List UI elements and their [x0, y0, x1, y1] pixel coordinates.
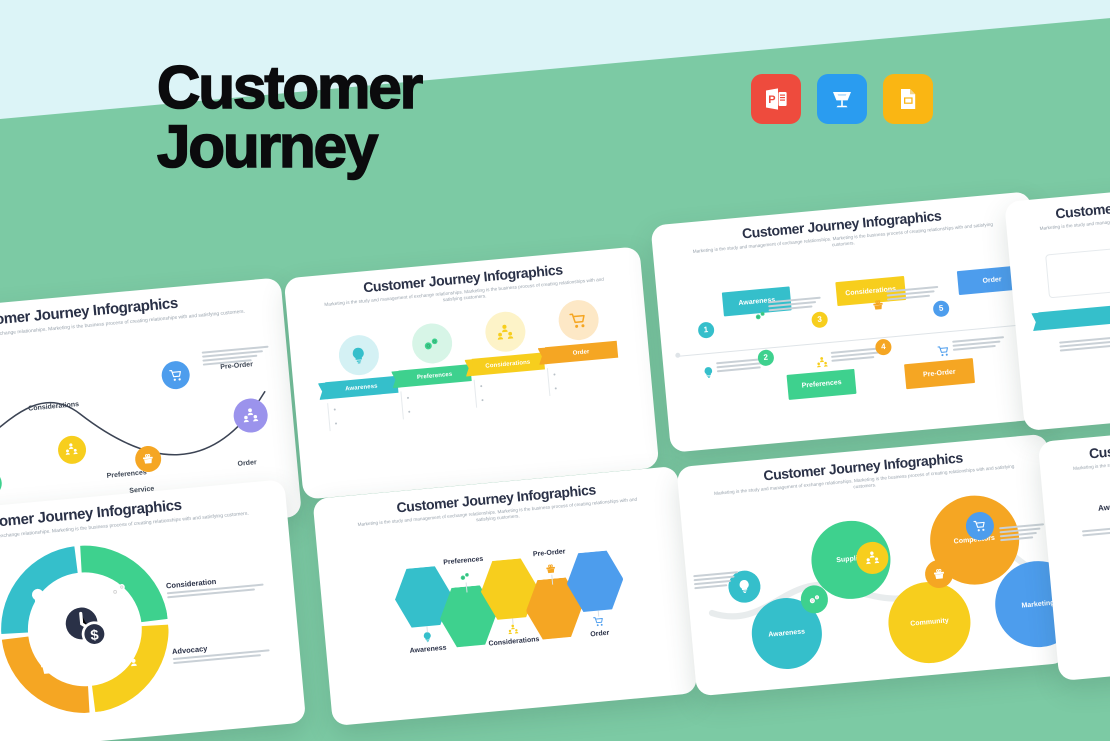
- bullet-list: [333, 401, 398, 431]
- gift-icon: [141, 451, 156, 466]
- slide-ribbon-columns[interactable]: Customer Journey InfographicsMarketing i…: [284, 246, 660, 499]
- bullet-dot: [333, 409, 335, 411]
- connector-line: [512, 619, 514, 625]
- link-icon: [421, 334, 442, 355]
- body-copy: [1059, 325, 1110, 352]
- hexagon-chain: AwarenessPreferencesConsiderationsPre-Or…: [316, 507, 696, 705]
- hexagon-label: Awareness: [409, 645, 446, 655]
- group-icon: [117, 648, 139, 675]
- hexagon-text: [590, 574, 599, 589]
- bullet-item: [481, 392, 545, 408]
- numbered-timeline: 1Awareness2Preferences3Considerations4Pr…: [654, 234, 1048, 432]
- link-icon: [107, 579, 129, 606]
- ribbon-column[interactable]: Awareness: [321, 332, 401, 435]
- svg-text:P: P: [768, 94, 775, 106]
- body-copy: [0, 702, 3, 718]
- hexagon-label: Pre-Order: [533, 548, 566, 558]
- step-icon-circle: [556, 299, 599, 342]
- body-copy: [339, 421, 340, 431]
- hexagon-label: Preferences: [443, 556, 484, 567]
- ribbon-body: [400, 385, 474, 419]
- body-copy: [486, 397, 487, 407]
- body-copy: [1082, 512, 1110, 537]
- lightbulb-icon: [702, 366, 717, 385]
- group-icon: [241, 406, 260, 425]
- step-icon-circle: [410, 322, 453, 365]
- app-format-icons: P: [751, 74, 933, 124]
- bullet-item: [408, 404, 472, 420]
- hexagon-text: [464, 609, 473, 624]
- hexagon-text: [505, 582, 514, 597]
- ribbon-column[interactable]: Order: [541, 297, 623, 415]
- gift-icon: [37, 656, 59, 683]
- donut-label-group: Consideration: [166, 572, 277, 599]
- slide-numbered-timeline[interactable]: Customer Journey InfographicsMarketing i…: [650, 191, 1050, 453]
- bullet-dot: [481, 399, 483, 401]
- powerpoint-icon[interactable]: P: [751, 74, 801, 124]
- ribbon-label-considerations[interactable]: Considerations: [471, 353, 544, 376]
- bullet-dot: [408, 411, 410, 413]
- step-number-4[interactable]: 4: [875, 338, 892, 355]
- group-icon: [64, 441, 80, 457]
- bullet-item: [333, 401, 397, 417]
- bullet-item: [480, 378, 544, 394]
- body-copy: [952, 335, 1010, 350]
- page-title: Customer Journey: [157, 58, 421, 177]
- google-slides-icon[interactable]: [883, 74, 933, 124]
- bullet-list: [553, 366, 618, 396]
- connector-line: [426, 627, 428, 633]
- copy-line: [1082, 513, 1110, 532]
- step-icon-circle: [483, 310, 526, 353]
- step-icon-circle: [337, 334, 380, 377]
- ribbon-body: [473, 374, 547, 408]
- bullet-dot: [480, 386, 482, 388]
- body-copy: [1059, 325, 1110, 352]
- donut-center-icon: $: [57, 599, 112, 659]
- donut-label-group: Advocacy: [172, 637, 283, 664]
- cart-icon: [937, 344, 952, 363]
- bullet-dot: [553, 374, 555, 376]
- bullet-dot: [334, 423, 336, 425]
- slide-header: Customer Journey InfographicsMarketing i…: [1004, 175, 1110, 241]
- ribbon-column[interactable]: Preferences: [394, 321, 475, 429]
- body-copy: [411, 395, 412, 405]
- body-copy: [554, 602, 555, 616]
- group-icon: [495, 322, 516, 343]
- body-copy: [338, 407, 339, 417]
- bullet-list: [480, 378, 545, 408]
- bullet-dot: [406, 397, 408, 399]
- cart-icon: [568, 310, 589, 331]
- step-label: Awareness: [1098, 500, 1110, 513]
- cart-icon: [168, 367, 184, 383]
- bullet-item: [553, 366, 617, 382]
- body-copy: [594, 574, 595, 588]
- lightbulb-icon: [27, 586, 49, 613]
- bullet-item: [334, 415, 398, 431]
- connector-line: [598, 611, 600, 617]
- ribbon-column[interactable]: Considerations: [467, 309, 548, 422]
- step-number-5[interactable]: 5: [932, 300, 949, 317]
- step-caption: [952, 335, 1010, 350]
- slide-title: Customer Journey Infographics: [1039, 424, 1110, 466]
- body-copy: [559, 385, 560, 395]
- bullet-item: [554, 380, 618, 396]
- body-copy: [558, 372, 559, 382]
- bubble-cluster: AwarenessSuppliesCommunityCompetitorsMar…: [680, 475, 1066, 678]
- group-icon: [815, 355, 830, 374]
- icon-card: [1045, 237, 1110, 298]
- link-icon: [754, 308, 769, 327]
- body-copy: [413, 409, 414, 419]
- axis-endpoint: [675, 353, 680, 358]
- ribbon-label-awareness[interactable]: Awareness: [1038, 294, 1110, 331]
- slide-donut-cycle[interactable]: Customer Journey InfographicsMarketing i…: [0, 479, 306, 741]
- donut-label-group: Purchase: [0, 692, 3, 719]
- ribbon-row: AwarenessPreferencesConsiderationsOrder: [288, 291, 654, 438]
- step-number-1[interactable]: 1: [697, 321, 714, 338]
- svg-text:$: $: [90, 628, 100, 645]
- hexagon-text: [550, 601, 559, 616]
- ribbon-body: [546, 362, 620, 396]
- hexagon-label: Considerations: [488, 637, 539, 649]
- slide-bubble-cluster[interactable]: Customer Journey InfographicsMarketing i…: [676, 434, 1067, 697]
- slide-title: Customer Journey Infographics: [1005, 184, 1110, 226]
- hexagon-text: [419, 590, 428, 605]
- slide-hexagon-chain[interactable]: Customer Journey InfographicsMarketing i…: [312, 466, 697, 726]
- partial-content: Awareness: [1008, 220, 1110, 416]
- gift-icon: [871, 297, 886, 316]
- ribbon-label-awareness[interactable]: Awareness: [325, 376, 398, 399]
- body-copy: [1082, 512, 1110, 537]
- ribbon-body: [327, 397, 401, 431]
- ribbon-label-order[interactable]: Order: [545, 341, 618, 364]
- hexagon-label: Order: [590, 630, 610, 639]
- body-copy: [484, 383, 485, 393]
- bullet-item: [406, 390, 470, 406]
- donut-diagram: $AwarenessConsiderationAdvocacyPurchase: [0, 516, 304, 736]
- body-copy: [468, 609, 469, 623]
- bullet-dot: [554, 388, 556, 390]
- bullet-list: [406, 390, 471, 420]
- donut-ring: $: [0, 538, 176, 720]
- keynote-icon[interactable]: [817, 74, 867, 124]
- body-copy: [509, 582, 510, 596]
- lightbulb-icon: [348, 345, 369, 366]
- body-copy: [423, 590, 424, 604]
- step-number-3[interactable]: 3: [811, 311, 828, 328]
- ribbon-label-preferences[interactable]: Preferences: [398, 365, 471, 388]
